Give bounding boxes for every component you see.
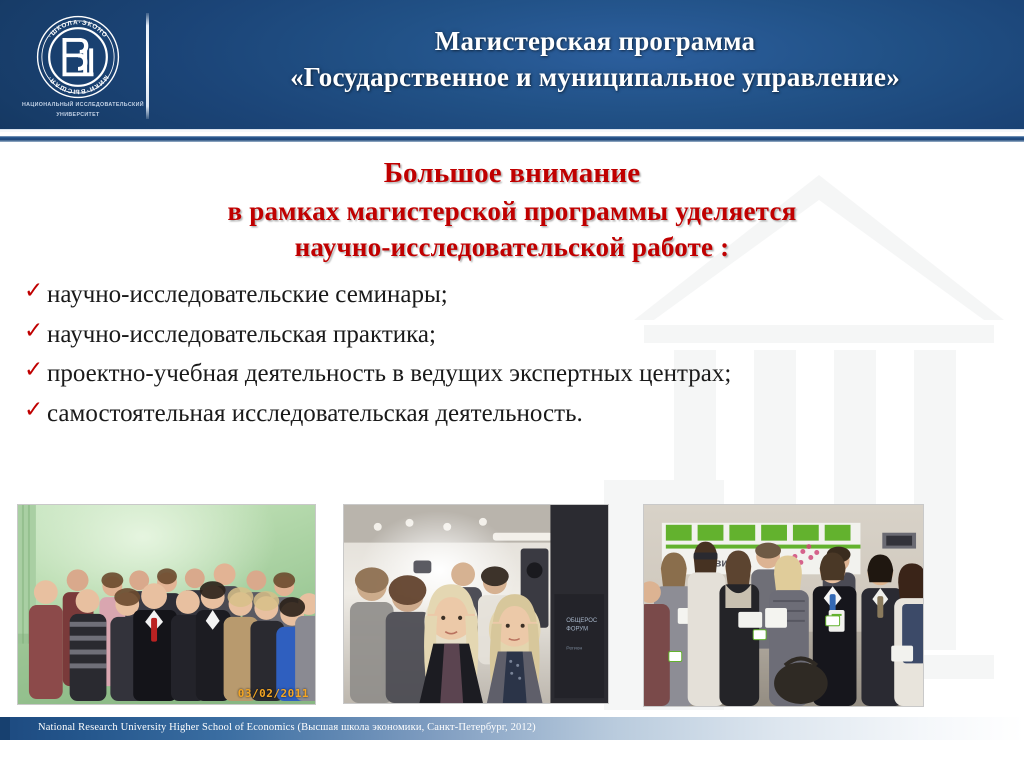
list-item-label: самостоятельная исследовательская деятел… <box>47 400 583 427</box>
section-heading-line2: в рамках магистерской программы уделяетс… <box>0 193 1024 229</box>
list-item-label: научно-исследовательская практика; <box>47 321 436 348</box>
check-mark-icon: ✓ <box>24 396 43 426</box>
page-title-line2: «Государственное и муниципальное управле… <box>175 60 1015 96</box>
vertical-divider <box>146 13 149 119</box>
check-mark-icon: ✓ <box>24 277 43 307</box>
svg-text:Регион: Регион <box>566 646 582 652</box>
page-title-line1: Магистерская программа <box>175 24 1015 60</box>
footer-accent <box>0 717 10 740</box>
page-title: Магистерская программа «Государственное … <box>175 24 1015 96</box>
footer-text: National Research University Higher Scho… <box>38 722 536 733</box>
check-mark-icon: ✓ <box>24 356 43 386</box>
section-heading-line1: Большое внимание <box>0 154 1024 193</box>
photo-students-conference: лави <box>643 504 924 707</box>
list-item-label: научно-исследовательские семинары; <box>47 281 448 308</box>
list-item: ✓ проектно-учебная деятельность в ведущи… <box>22 358 1024 391</box>
presentation-slide: ·ШКОЛА·ЭКОНО МИКИ·ВЫСШАЯ· НАЦИОНАЛЬНЫЙ И… <box>0 0 1024 768</box>
bullet-list: ✓ научно-исследовательские семинары; ✓ н… <box>0 279 1024 430</box>
logo-caption-line2: УНИВЕРСИТЕТ <box>22 112 134 120</box>
photo-strip: 03/02/2011 <box>0 504 1024 709</box>
list-item-label: проектно-учебная деятельность в ведущих … <box>47 360 731 387</box>
hse-emblem-icon: ·ШКОЛА·ЭКОНО МИКИ·ВЫСШАЯ· <box>35 14 121 100</box>
list-item: ✓ научно-исследовательские семинары; <box>22 279 1024 312</box>
photo-timestamp: 03/02/2011 <box>238 687 309 700</box>
photo-group-green-wall: 03/02/2011 <box>17 504 316 705</box>
section-heading-line3: научно-исследовательской работе : <box>0 229 1024 265</box>
svg-text:ФОРУМ: ФОРУМ <box>566 627 588 633</box>
section-heading: Большое внимание в рамках магистерской п… <box>0 142 1024 265</box>
logo-caption-line1: НАЦИОНАЛЬНЫЙ ИССЛЕДОВАТЕЛЬСКИЙ <box>22 102 134 110</box>
slide-content: Большое внимание в рамках магистерской п… <box>0 142 1024 437</box>
hse-logo: ·ШКОЛА·ЭКОНО МИКИ·ВЫСШАЯ· НАЦИОНАЛЬНЫЙ И… <box>22 14 134 122</box>
header-rule-bottom <box>0 136 1024 142</box>
list-item: ✓ научно-исследовательская практика; <box>22 319 1024 352</box>
svg-text:ОБЩЕРОС: ОБЩЕРОС <box>566 618 598 624</box>
photo-two-students-event: ОБЩЕРОС ФОРУМ Регион <box>343 504 609 704</box>
check-mark-icon: ✓ <box>24 317 43 347</box>
list-item: ✓ самостоятельная исследовательская деят… <box>22 398 1024 431</box>
